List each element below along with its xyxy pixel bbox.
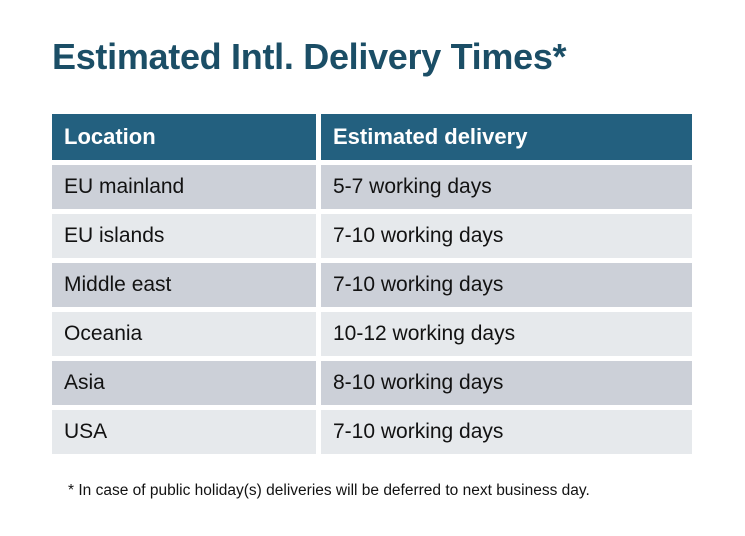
column-header-location: Location [52, 114, 316, 160]
table-row: Oceania 10-12 working days [52, 312, 692, 356]
page-title: Estimated Intl. Delivery Times* [52, 36, 566, 78]
cell-estimated-delivery: 10-12 working days [321, 312, 692, 356]
footnote-text: * In case of public holiday(s) deliverie… [68, 482, 590, 500]
cell-location: Asia [52, 361, 316, 405]
cell-location: EU islands [52, 214, 316, 258]
cell-location: Oceania [52, 312, 316, 356]
table-row: EU mainland 5-7 working days [52, 165, 692, 209]
cell-estimated-delivery: 7-10 working days [321, 410, 692, 454]
cell-location: EU mainland [52, 165, 316, 209]
cell-estimated-delivery: 7-10 working days [321, 263, 692, 307]
table-row: Asia 8-10 working days [52, 361, 692, 405]
table-row: Middle east 7-10 working days [52, 263, 692, 307]
cell-estimated-delivery: 5-7 working days [321, 165, 692, 209]
table-row: USA 7-10 working days [52, 410, 692, 454]
table-row: EU islands 7-10 working days [52, 214, 692, 258]
column-header-estimated-delivery: Estimated delivery [321, 114, 692, 160]
cell-location: Middle east [52, 263, 316, 307]
cell-estimated-delivery: 8-10 working days [321, 361, 692, 405]
cell-estimated-delivery: 7-10 working days [321, 214, 692, 258]
cell-location: USA [52, 410, 316, 454]
delivery-times-page: Estimated Intl. Delivery Times* Location… [0, 0, 745, 536]
estimated-delivery-times-table: Location Estimated delivery EU mainland … [52, 114, 692, 454]
table-header-row: Location Estimated delivery [52, 114, 692, 160]
